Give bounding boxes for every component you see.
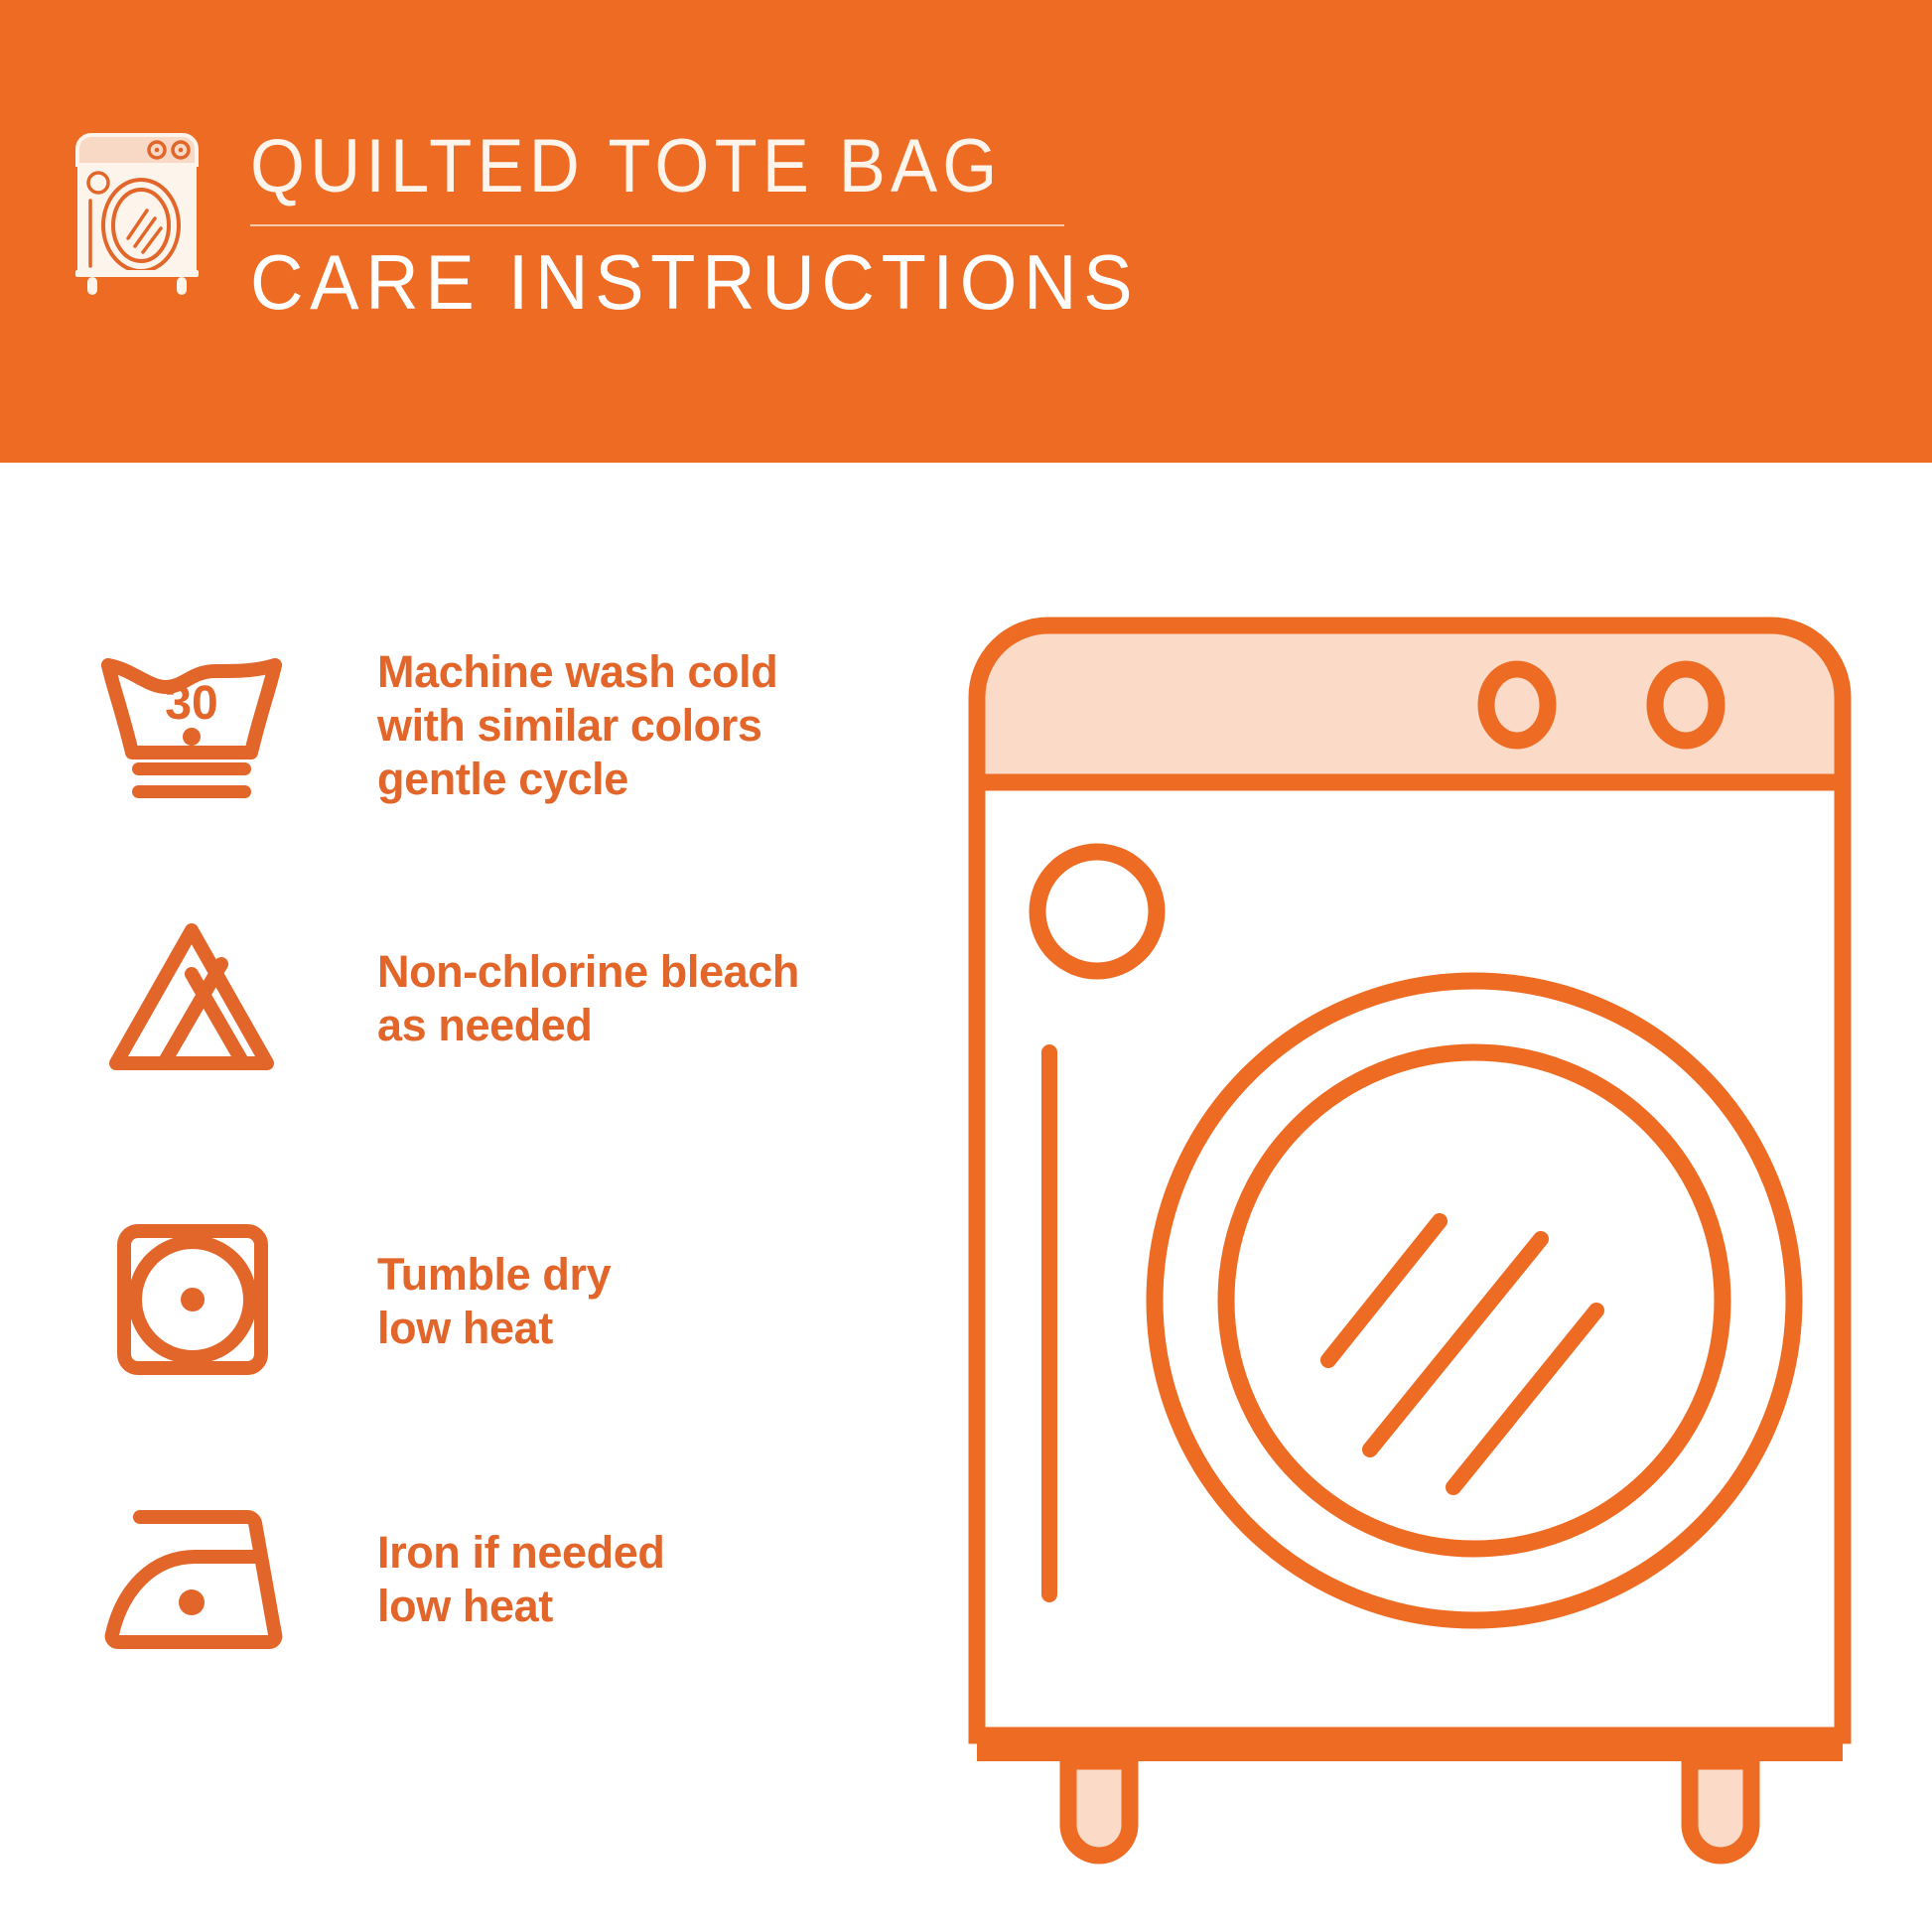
page-subtitle: CARE INSTRUCTIONS bbox=[250, 240, 1139, 324]
care-instruction-list: 30 Machine wash cold with similar colors… bbox=[0, 463, 953, 1932]
iron-low-heat-icon bbox=[77, 1495, 306, 1664]
header-titles: QUILTED TOTE BAG CARE INSTRUCTIONS bbox=[250, 127, 1185, 324]
wash-temperature-value: 30 bbox=[165, 677, 217, 730]
care-row-iron: Iron if needed low heat bbox=[77, 1495, 951, 1664]
header-banner: QUILTED TOTE BAG CARE INSTRUCTIONS bbox=[0, 0, 1932, 463]
non-chlorine-bleach-icon bbox=[77, 914, 306, 1083]
care-row-tumble-dry: Tumble dry low heat bbox=[77, 1217, 951, 1386]
washing-machine-icon bbox=[71, 131, 222, 295]
care-label-bleach: Non-chlorine bleach as needed bbox=[377, 945, 799, 1052]
header-content: QUILTED TOTE BAG CARE INSTRUCTIONS bbox=[71, 127, 1185, 324]
care-label-tumble-dry: Tumble dry low heat bbox=[377, 1248, 611, 1355]
care-label-iron: Iron if needed low heat bbox=[377, 1526, 664, 1633]
title-divider bbox=[250, 224, 1064, 226]
tumble-dry-low-icon bbox=[77, 1217, 306, 1386]
machine-wash-30-icon: 30 bbox=[77, 641, 306, 810]
page-title: QUILTED TOTE BAG bbox=[250, 127, 1120, 207]
care-row-bleach: Non-chlorine bleach as needed bbox=[77, 914, 951, 1083]
washing-machine-illustration bbox=[953, 596, 1906, 1886]
care-row-machine-wash: 30 Machine wash cold with similar colors… bbox=[77, 641, 951, 810]
care-label-machine-wash: Machine wash cold with similar colors ge… bbox=[377, 645, 777, 806]
